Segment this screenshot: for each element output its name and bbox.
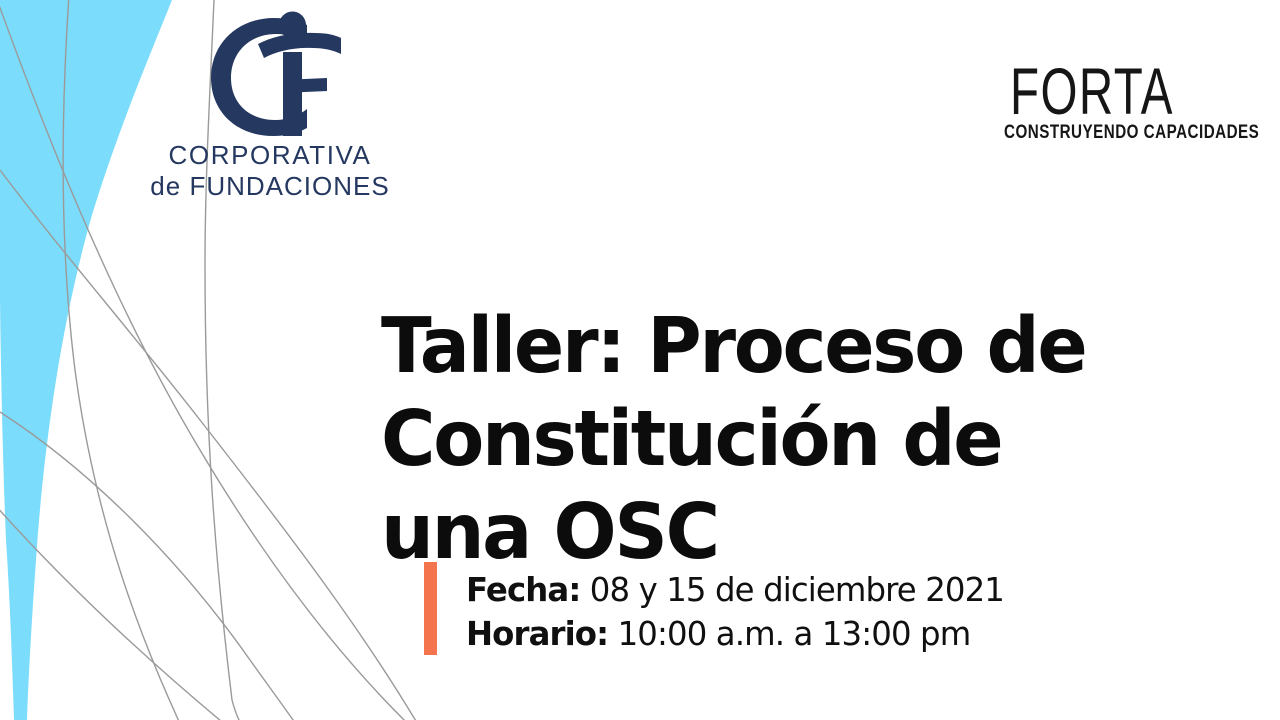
forta-wordmark: FORTA bbox=[1010, 63, 1174, 120]
cif-wordmark: CORPORATIVA de FUNDACIONES bbox=[150, 140, 390, 201]
detail-label-fecha: Fecha: bbox=[466, 570, 580, 609]
cif-wordmark-line1: CORPORATIVA bbox=[150, 140, 390, 171]
cif-logo: CORPORATIVA de FUNDACIONES bbox=[150, 8, 390, 208]
cif-monogram-icon bbox=[195, 8, 345, 140]
slide-canvas: CORPORATIVA de FUNDACIONES FORTA CONSTRU… bbox=[0, 0, 1280, 720]
title-line-2: Constitución de bbox=[381, 393, 1163, 486]
detail-row-fecha: Fecha: 08 y 15 de diciembre 2021 bbox=[466, 568, 1004, 612]
forta-logo-top-row: FORTA bbox=[1004, 52, 1224, 120]
title-line-1: Taller: Proceso de bbox=[381, 300, 1163, 393]
detail-label-horario: Horario: bbox=[466, 614, 608, 653]
detail-value-horario: 10:00 a.m. a 13:00 pm bbox=[618, 614, 971, 653]
cif-wordmark-line2: de FUNDACIONES bbox=[150, 171, 390, 202]
detail-value-fecha: 08 y 15 de diciembre 2021 bbox=[590, 570, 1004, 609]
forta-tagline: CONSTRUYENDO CAPACIDADES bbox=[1004, 122, 1180, 144]
forta-logo: FORTA CONSTRUYENDO CAPACIDADES bbox=[1004, 52, 1224, 152]
event-details-text: Fecha: 08 y 15 de diciembre 2021 Horario… bbox=[466, 562, 1004, 655]
page-title: Taller: Proceso de Constitución de una O… bbox=[381, 300, 1163, 579]
accent-bar bbox=[424, 562, 437, 655]
blue-crescent-shape bbox=[0, 0, 172, 720]
event-details: Fecha: 08 y 15 de diciembre 2021 Horario… bbox=[424, 562, 1015, 655]
detail-row-horario: Horario: 10:00 a.m. a 13:00 pm bbox=[466, 612, 1004, 656]
